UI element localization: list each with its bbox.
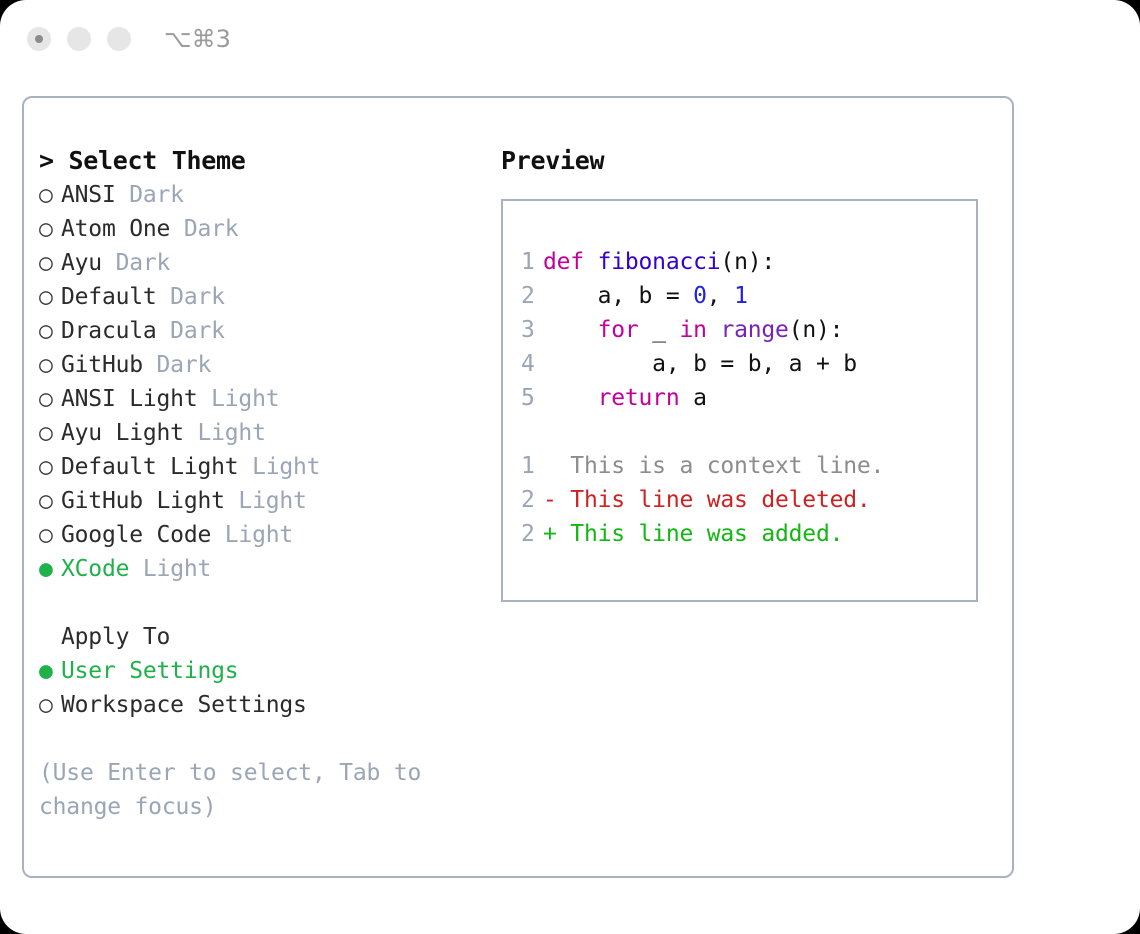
radio-icon: ○ — [39, 212, 61, 246]
apply-to-heading: Apply To — [39, 620, 479, 654]
theme-list-item[interactable]: ○Ayu Dark — [39, 246, 479, 280]
code-line: 4 a, b = b, a + b — [521, 347, 976, 381]
diff-line: 1 This is a context line. — [521, 449, 976, 483]
radio-icon: ○ — [39, 518, 61, 552]
theme-kind-label: Dark — [157, 318, 225, 344]
radio-icon: ○ — [39, 246, 61, 280]
theme-name: Google Code — [61, 522, 211, 548]
radio-icon: ○ — [39, 314, 61, 348]
theme-kind-label: Light — [129, 556, 211, 582]
theme-name: Atom One — [61, 216, 170, 242]
code-token: a — [679, 385, 706, 411]
code-token: range — [720, 317, 788, 343]
radio-icon: ○ — [39, 280, 61, 314]
theme-list-item[interactable]: ○ANSI Light Light — [39, 382, 479, 416]
theme-kind-label: Light — [238, 454, 320, 480]
theme-kind-label: Light — [197, 386, 279, 412]
code-sample: 1def fibonacci(n):2 a, b = 0, 13 for _ i… — [521, 245, 976, 415]
code-token: _ — [639, 317, 680, 343]
theme-list-item[interactable]: ○Default Light Light — [39, 450, 479, 484]
code-token: fibonacci — [598, 249, 721, 275]
radio-icon: ○ — [39, 450, 61, 484]
preview-box: 1def fibonacci(n):2 a, b = 0, 13 for _ i… — [501, 199, 978, 602]
line-number: 4 — [521, 347, 543, 381]
theme-kind-label: Dark — [102, 250, 170, 276]
code-token: (n): — [720, 249, 775, 275]
code-line: 5 return a — [521, 381, 976, 415]
theme-kind-label: Dark — [116, 182, 184, 208]
diff-line: 2- This line was deleted. — [521, 483, 976, 517]
theme-name: Default Light — [61, 454, 238, 480]
theme-name: Ayu Light — [61, 420, 184, 446]
keyboard-shortcut-label: ⌥⌘3 — [164, 25, 231, 53]
apply-to-item[interactable]: ●User Settings — [39, 654, 479, 688]
diff-sample: 1 This is a context line.2- This line wa… — [521, 449, 976, 551]
code-token: 0 — [693, 283, 707, 309]
code-token — [707, 317, 721, 343]
theme-kind-label: Light — [184, 420, 266, 446]
theme-name: Dracula — [61, 318, 157, 344]
window-titlebar: ⌥⌘3 — [0, 0, 1140, 78]
theme-name: GitHub Light — [61, 488, 225, 514]
diff-text: - This line was deleted. — [543, 487, 871, 513]
help-text: (Use Enter to select, Tab to change focu… — [39, 756, 439, 824]
line-number: 5 — [521, 381, 543, 415]
apply-to-list: ●User Settings○Workspace Settings — [39, 654, 479, 722]
radio-icon: ○ — [39, 178, 61, 212]
theme-list-item[interactable]: ○Default Dark — [39, 280, 479, 314]
code-token: a, b = b, a + b — [543, 351, 857, 377]
code-diff-spacer — [521, 415, 976, 449]
theme-name: Default — [61, 284, 157, 310]
theme-list: ○ANSI Dark○Atom One Dark○Ayu Dark○Defaul… — [39, 178, 479, 586]
theme-kind-label: Dark — [143, 352, 211, 378]
theme-list-item[interactable]: ○GitHub Dark — [39, 348, 479, 382]
theme-name: GitHub — [61, 352, 143, 378]
code-line: 2 a, b = 0, 1 — [521, 279, 976, 313]
theme-name: ANSI — [61, 182, 116, 208]
radio-icon: ○ — [39, 382, 61, 416]
theme-kind-label: Dark — [170, 216, 238, 242]
radio-selected-icon: ● — [39, 654, 61, 688]
window-dot-second-icon[interactable] — [67, 27, 91, 51]
code-token: , — [707, 283, 734, 309]
line-number: 2 — [521, 483, 543, 517]
preview-column: Preview 1def fibonacci(n):2 a, b = 0, 13… — [501, 144, 1001, 602]
select-theme-heading: > Select Theme — [39, 144, 479, 178]
theme-name: XCode — [61, 556, 129, 582]
radio-icon: ○ — [39, 484, 61, 518]
code-line: 3 for _ in range(n): — [521, 313, 976, 347]
preview-heading: Preview — [501, 144, 1001, 178]
code-line: 1def fibonacci(n): — [521, 245, 976, 279]
line-number: 1 — [521, 245, 543, 279]
theme-list-item[interactable]: ○Ayu Light Light — [39, 416, 479, 450]
theme-list-item[interactable]: ○Atom One Dark — [39, 212, 479, 246]
apply-to-item[interactable]: ○Workspace Settings — [39, 688, 479, 722]
apply-to-label: Workspace Settings — [61, 692, 307, 718]
theme-list-item[interactable]: ●XCode Light — [39, 552, 479, 586]
window-controls — [27, 27, 131, 51]
code-token: (n): — [789, 317, 844, 343]
theme-name: ANSI Light — [61, 386, 197, 412]
app-window: ⌥⌘3 > Select Theme ○ANSI Dark○Atom One D… — [0, 0, 1140, 934]
theme-list-item[interactable]: ○GitHub Light Light — [39, 484, 479, 518]
code-token — [543, 317, 598, 343]
line-number: 1 — [521, 449, 543, 483]
theme-selection-column: > Select Theme ○ANSI Dark○Atom One Dark○… — [39, 144, 479, 824]
theme-picker-panel: > Select Theme ○ANSI Dark○Atom One Dark○… — [22, 96, 1014, 878]
theme-kind-label: Light — [225, 488, 307, 514]
line-number: 3 — [521, 313, 543, 347]
radio-icon: ○ — [39, 348, 61, 382]
apply-to-label: User Settings — [61, 658, 238, 684]
diff-text: This is a context line. — [543, 453, 884, 479]
line-number: 2 — [521, 517, 543, 551]
theme-list-item[interactable]: ○Google Code Light — [39, 518, 479, 552]
code-token — [543, 385, 598, 411]
theme-name: Ayu — [61, 250, 102, 276]
theme-kind-label: Light — [211, 522, 293, 548]
radio-icon: ○ — [39, 416, 61, 450]
code-token: a, b = — [543, 283, 693, 309]
code-token: def — [543, 249, 598, 275]
radio-icon: ○ — [39, 688, 61, 722]
window-dot-active-icon[interactable] — [27, 27, 51, 51]
line-number: 2 — [521, 279, 543, 313]
theme-list-item[interactable]: ○Dracula Dark — [39, 314, 479, 348]
code-token: 1 — [734, 283, 748, 309]
diff-line: 2+ This line was added. — [521, 517, 976, 551]
theme-list-item[interactable]: ○ANSI Dark — [39, 178, 479, 212]
radio-selected-icon: ● — [39, 552, 61, 586]
code-token: in — [680, 317, 707, 343]
window-dot-third-icon[interactable] — [107, 27, 131, 51]
window-dot-inner — [35, 35, 43, 43]
code-token: return — [598, 385, 680, 411]
theme-kind-label: Dark — [157, 284, 225, 310]
diff-text: + This line was added. — [543, 521, 843, 547]
code-token: for — [598, 317, 639, 343]
